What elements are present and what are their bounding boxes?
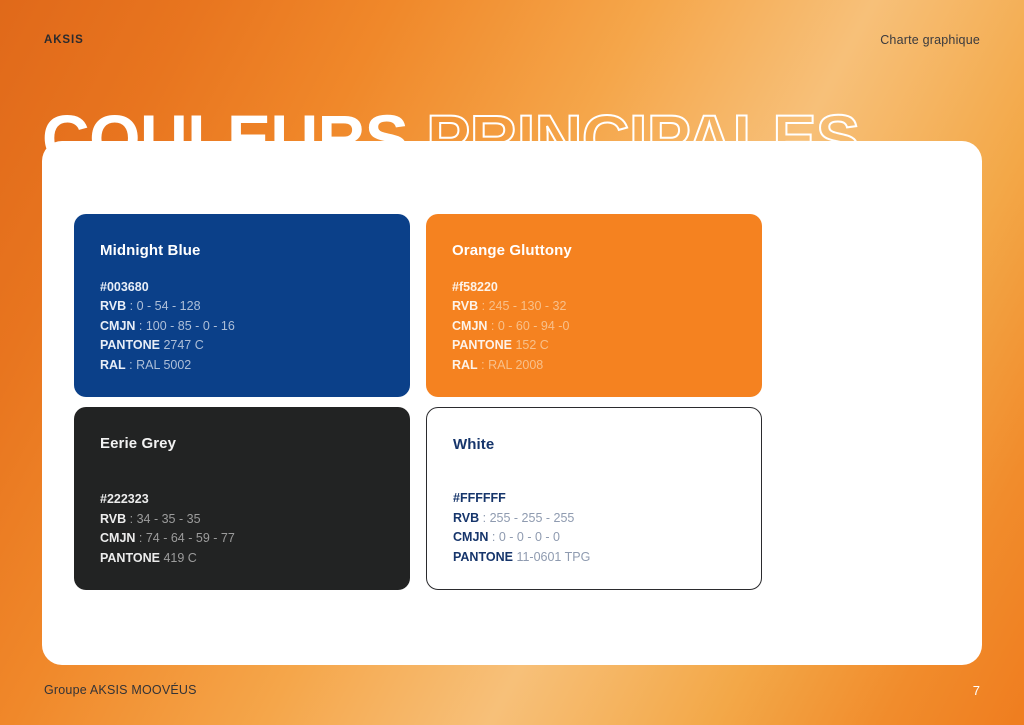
color-card-orange-gluttony: Orange Gluttony #f58220 RVB : 245 - 130 … [426,214,762,397]
spec-key: RAL [100,358,126,372]
content-panel: Midnight Blue #003680 RVB : 0 - 54 - 128… [42,141,982,665]
spec-row-pantone: PANTONE 11-0601 TPG [453,548,590,568]
spec-key: PANTONE [452,338,512,352]
spec-key: RVB [453,511,479,525]
spec-row-pantone: PANTONE 419 C [100,549,235,569]
spec-key: #FFFFFF [453,491,506,505]
spec-key: RVB [100,512,126,526]
spec-key: PANTONE [453,550,513,564]
spec-value: : 0 - 54 - 128 [126,299,200,313]
spec-row-hex: #222323 [100,490,235,510]
spec-row-cmjn: CMJN : 100 - 85 - 0 - 16 [100,317,235,337]
spec-key: CMJN [100,531,135,545]
slide-header: AKSIS Charte graphique [44,30,980,50]
spec-value: 2747 C [160,338,204,352]
spec-row-rvb: RVB : 34 - 35 - 35 [100,510,235,530]
spec-row-ral: RAL : RAL 2008 [452,356,569,376]
spec-value: : RAL 2008 [478,358,544,372]
spec-row-hex: #f58220 [452,278,569,298]
spec-row-cmjn: CMJN : 0 - 0 - 0 - 0 [453,528,590,548]
spec-row-ral: RAL : RAL 5002 [100,356,235,376]
spec-value: : 100 - 85 - 0 - 16 [135,319,234,333]
color-card-grid: Midnight Blue #003680 RVB : 0 - 54 - 128… [74,214,762,590]
spec-value: : 245 - 130 - 32 [478,299,566,313]
spec-row-hex: #003680 [100,278,235,298]
spec-key: PANTONE [100,551,160,565]
spec-key: CMJN [100,319,135,333]
spec-row-rvb: RVB : 0 - 54 - 128 [100,297,235,317]
document-tag: Charte graphique [880,33,980,47]
spec-key: CMJN [453,530,488,544]
spec-key: #003680 [100,280,149,294]
spec-row-cmjn: CMJN : 74 - 64 - 59 - 77 [100,529,235,549]
color-card-specs: #003680 RVB : 0 - 54 - 128 CMJN : 100 - … [100,278,235,376]
spec-key: RVB [100,299,126,313]
spec-key: #f58220 [452,280,498,294]
color-card-white: White #FFFFFF RVB : 255 - 255 - 255 CMJN… [426,407,762,590]
spec-row-pantone: PANTONE 152 C [452,336,569,356]
slide-couleurs-principales: AKSIS Charte graphique COULEURS PRINCIPA… [0,0,1024,725]
spec-key: PANTONE [100,338,160,352]
brand-tag: AKSIS [44,34,84,46]
color-card-specs: #f58220 RVB : 245 - 130 - 32 CMJN : 0 - … [452,278,569,376]
spec-value: : 34 - 35 - 35 [126,512,200,526]
color-card-title: Orange Gluttony [452,242,736,259]
spec-value: : RAL 5002 [126,358,192,372]
color-card-title: White [453,436,735,453]
spec-row-rvb: RVB : 245 - 130 - 32 [452,297,569,317]
spec-value: : 0 - 60 - 94 -0 [487,319,569,333]
spec-row-rvb: RVB : 255 - 255 - 255 [453,509,590,529]
spec-value: 152 C [512,338,549,352]
footer-company: Groupe AKSIS MOOVÉUS [44,683,197,697]
spec-key: CMJN [452,319,487,333]
color-card-specs: #222323 RVB : 34 - 35 - 35 CMJN : 74 - 6… [100,490,235,568]
color-card-eerie-grey: Eerie Grey #222323 RVB : 34 - 35 - 35 CM… [74,407,410,590]
color-card-title: Midnight Blue [100,242,384,259]
spec-value: : 0 - 0 - 0 - 0 [488,530,560,544]
footer-page-number: 7 [973,683,980,698]
spec-value: 419 C [160,551,197,565]
spec-key: #222323 [100,492,149,506]
spec-row-cmjn: CMJN : 0 - 60 - 94 -0 [452,317,569,337]
spec-value: : 74 - 64 - 59 - 77 [135,531,234,545]
slide-footer: Groupe AKSIS MOOVÉUS 7 [44,681,980,699]
spec-key: RVB [452,299,478,313]
color-card-title: Eerie Grey [100,435,384,452]
spec-row-hex: #FFFFFF [453,489,590,509]
spec-value: : 255 - 255 - 255 [479,511,574,525]
color-card-midnight-blue: Midnight Blue #003680 RVB : 0 - 54 - 128… [74,214,410,397]
color-card-specs: #FFFFFF RVB : 255 - 255 - 255 CMJN : 0 -… [453,489,590,567]
spec-row-pantone: PANTONE 2747 C [100,336,235,356]
spec-key: RAL [452,358,478,372]
spec-value: 11-0601 TPG [513,550,590,564]
